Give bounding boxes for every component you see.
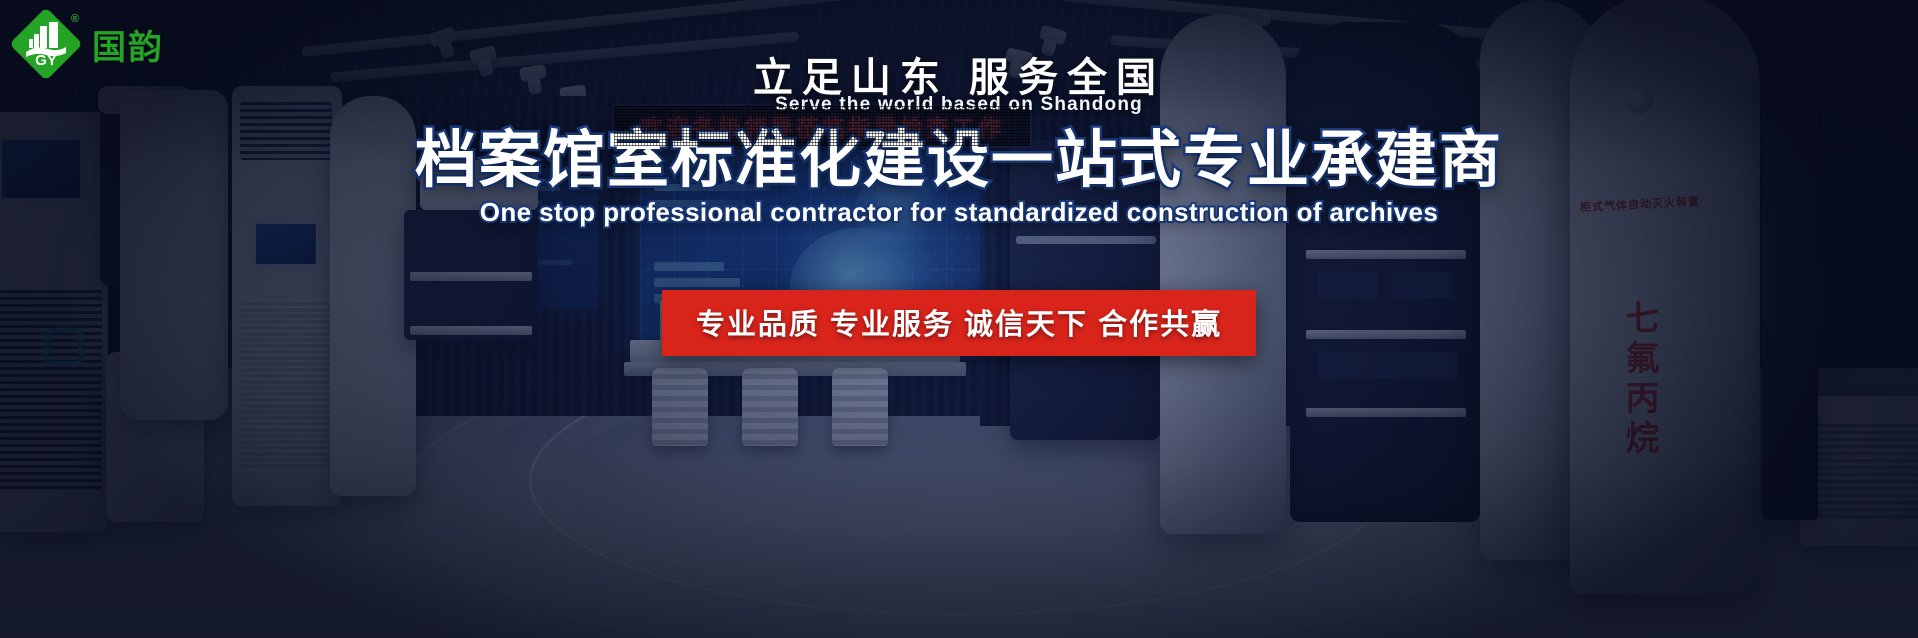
hero-overlay: GY ® 国韵 立足山东 服务全国 Serve the world based … (0, 0, 1918, 638)
hero-banner: 柜式气体自动灭火装置 七氟丙烷 欢迎各级领导莅临指导检查工作 GY (0, 0, 1918, 638)
hero-slogan-bar: 专业品质 专业服务 诚信天下 合作共赢 (662, 290, 1256, 356)
hero-headline-en: One stop professional contractor for sta… (0, 197, 1918, 228)
hero-kicker-en: Serve the world based on Shandong (0, 94, 1918, 116)
hero-headline-cn: 档案馆室标准化建设一站式专业承建商 (0, 125, 1918, 196)
hero-slogan-text: 专业品质 专业服务 诚信天下 合作共赢 (696, 309, 1222, 341)
registered-mark: ® (71, 13, 79, 25)
